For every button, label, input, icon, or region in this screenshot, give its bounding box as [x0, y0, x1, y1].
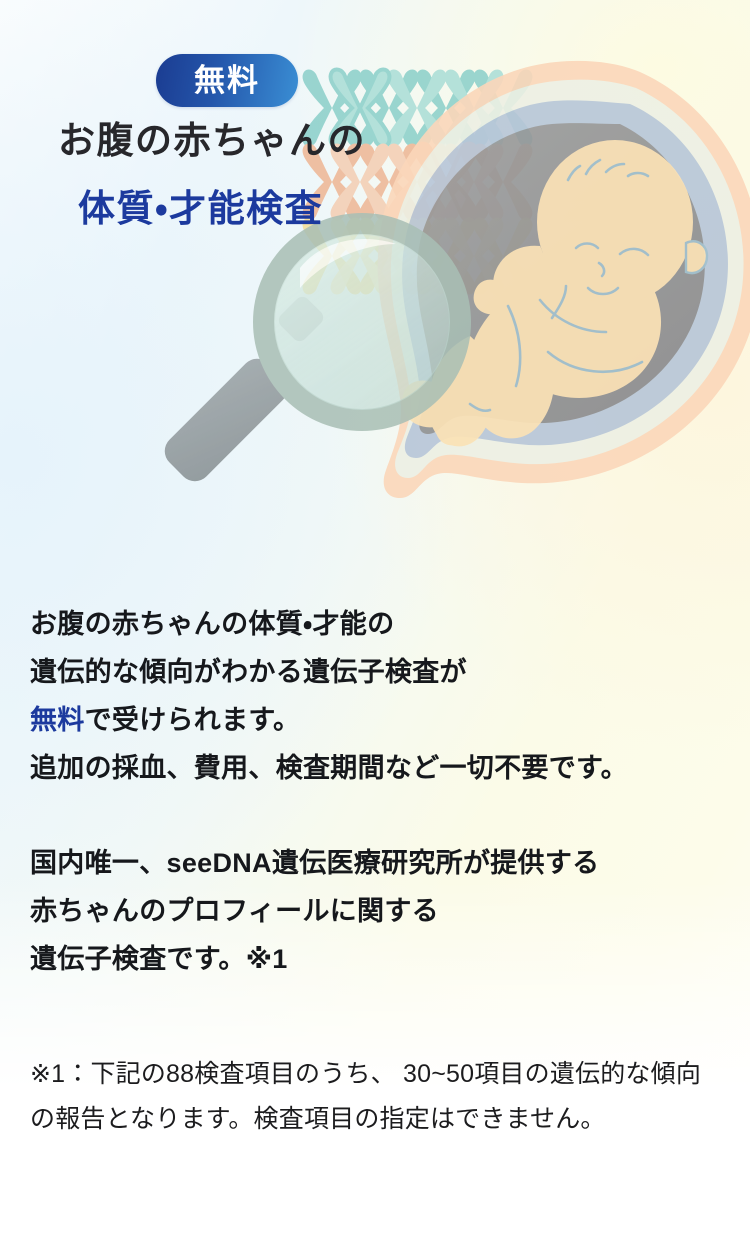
body-paragraph1-line2: 遺伝的な傾向がわかる遺伝子検査が — [30, 648, 730, 696]
body-copy: お腹の赤ちゃんの体質・才能の 遺伝的な傾向がわかる遺伝子検査が 無料で受けられま… — [30, 600, 730, 983]
page-title-line-2: 体質・才能検査 — [0, 190, 750, 227]
free-highlight-rest: で受けられます。 — [85, 705, 301, 735]
body-paragraph1-line1: お腹の赤ちゃんの体質・才能の — [30, 600, 730, 648]
page-title-line-1: お腹の赤ちゃんの — [0, 122, 750, 159]
body-paragraph2-line3: 遺伝子検査です。※1 — [30, 935, 730, 983]
free-badge-label: 無料 — [194, 65, 260, 96]
hero-illustration — [0, 0, 750, 560]
body-paragraph2-line2: 赤ちゃんのプロフィールに関する — [30, 887, 730, 935]
page-title: お腹の赤ちゃんの 体質・才能検査 — [0, 122, 750, 227]
body-paragraph2-line1: 国内唯一、seeDNA遺伝医療研究所が提供する — [30, 839, 730, 887]
footnote-note-1: ※1：下記の88検査項目のうち、 30~50項目の遺伝的な傾向の報告となります。… — [30, 1052, 724, 1142]
free-badge: 無料 — [156, 54, 298, 107]
body-paragraph1-line3: 無料で受けられます。 — [30, 696, 730, 744]
paragraph-spacer — [30, 792, 730, 839]
landing-page: 無料 お腹の赤ちゃんの 体質・才能検査 お腹の赤ちゃんの体質・才能の 遺伝的な傾… — [0, 0, 750, 1252]
free-highlight: 無料 — [30, 705, 85, 735]
body-paragraph1-line4: 追加の採血、費用、検査期間など一切不要です。 — [30, 744, 730, 792]
